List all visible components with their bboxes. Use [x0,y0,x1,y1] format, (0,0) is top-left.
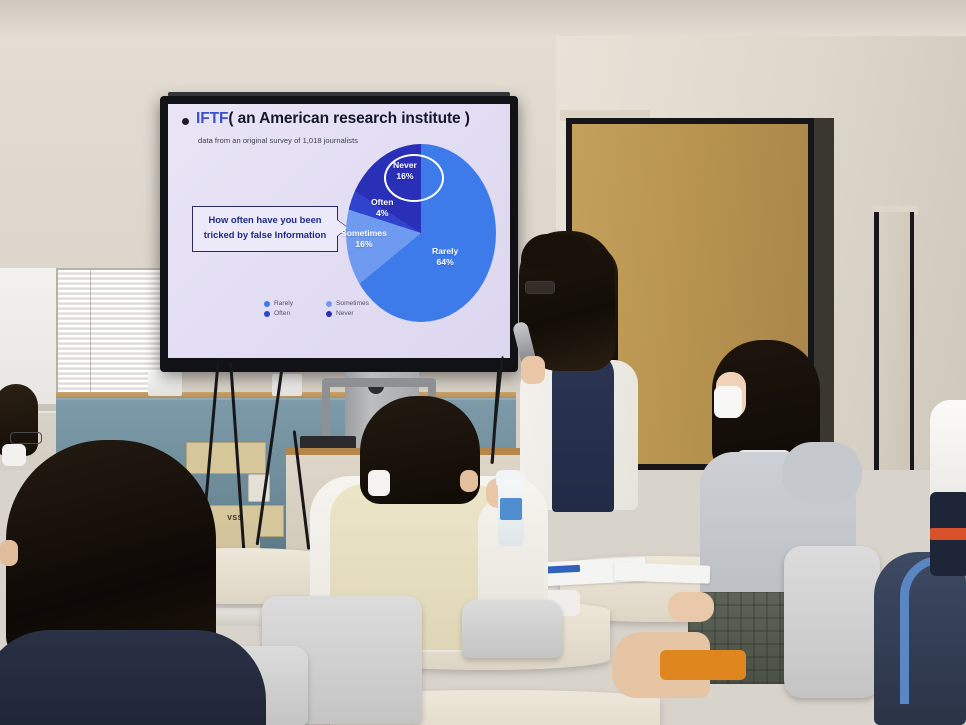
presenter-hand [521,356,545,384]
pie-label-sometimes-pct: 16% [355,239,372,249]
legend-swatch-icon [264,311,270,317]
pie-label-sometimes-name: Sometimes [341,228,387,238]
student-foreground-hair [6,440,216,662]
legend-swatch-icon [326,301,332,307]
presenter-bangs [521,234,593,270]
student-foreground-body [0,630,266,725]
chair[interactable] [784,546,880,698]
pie-label-never-pct: 16% [396,171,413,181]
pie-label-rarely: Rarely 64% [432,246,458,268]
display-stand-bar [322,378,436,387]
legend-label: Sometimes [336,300,369,307]
slide-canvas: IFTF( an American research institute ) d… [168,104,510,358]
legend-label: Never [336,310,354,317]
office-chair-rim [900,556,966,704]
question-callout: How often have you been tricked by false… [192,206,338,252]
sliding-door-panel-secondary[interactable] [874,212,914,470]
paper-sheet [614,562,711,583]
student-foreground-ear [0,540,18,566]
face-mask-icon [2,444,26,466]
blind-cord [90,270,91,394]
callout-line-2: tricked by false Information [193,228,337,243]
legend-swatch-icon [326,311,332,317]
pie-label-never: Never 16% [393,160,417,182]
slide-title-highlight: IFTF [196,110,228,127]
presentation-display[interactable]: IFTF( an American research institute ) d… [160,96,518,372]
student-right-hands [668,592,714,622]
ceiling-shadow [0,0,966,36]
legend-label: Rarely [274,300,293,307]
face-mask-icon [714,386,742,418]
pie-label-rarely-pct: 64% [437,257,454,267]
chair[interactable] [462,600,562,658]
classroom-presentation-scene: VSS IFTF( an American research institute… [0,0,966,725]
pie-label-rarely-name: Rarely [432,246,458,256]
callout-line-1: How often have you been [193,213,337,228]
face-mask-icon [368,470,390,496]
cabinet-sign-upper [186,442,266,474]
legend-item: Sometimes [326,300,394,307]
legend-label: Often [274,310,290,317]
bullet-dot-icon [182,118,189,125]
legend-item: Rarely [264,300,326,307]
pie-label-sometimes: Sometimes 16% [341,228,387,250]
glasses-icon [10,432,42,444]
spray-bottle-label [500,498,522,520]
glasses-icon [525,281,555,294]
display-stand-leg [322,378,330,444]
legend-swatch-icon [264,301,270,307]
chart-legend: RarelySometimesOftenNever [264,300,394,317]
student-center-ear [460,470,478,492]
pie-label-never-name: Never [393,160,417,170]
slide-title: IFTF( an American research institute ) [196,110,470,128]
legend-item: Often [264,310,326,317]
hoodie-hood [782,442,862,504]
pie-label-often: Often 4% [371,197,393,219]
pie-label-often-name: Often [371,197,393,207]
chair-seat[interactable] [660,650,746,680]
slide-subtitle: data from an original survey of 1,018 jo… [198,136,358,145]
pie-chart: Never 16% Often 4% Sometimes 16% Rarely … [346,144,496,322]
pie-label-often-pct: 4% [376,208,388,218]
red-object [930,528,966,540]
legend-item: Never [326,310,394,317]
slide-title-rest: ( an American research institute ) [228,110,470,127]
tissue-box [148,372,182,396]
presenter-vest [552,352,614,512]
